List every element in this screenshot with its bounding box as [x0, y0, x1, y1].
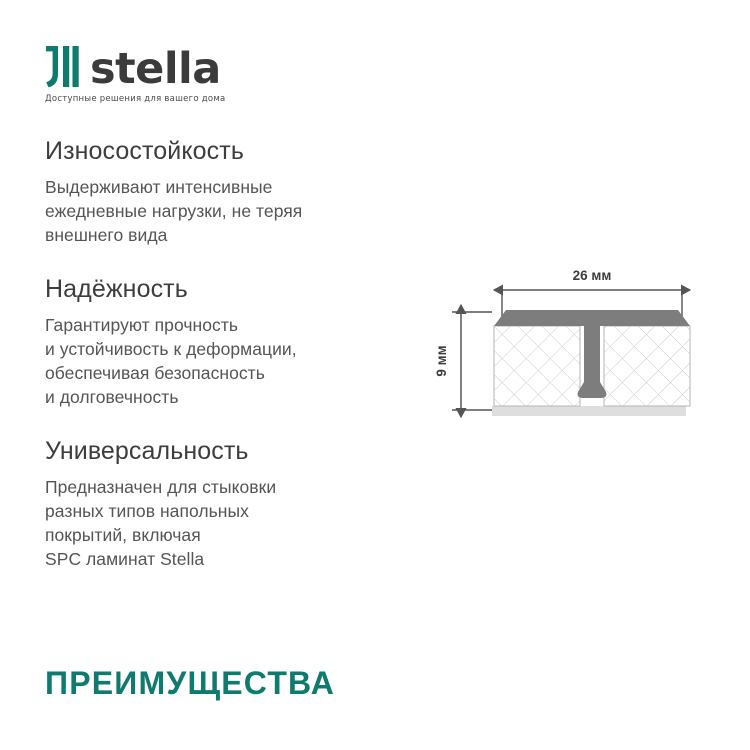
width-dimension-label: 26 мм	[573, 268, 612, 283]
core-block-left	[494, 326, 580, 406]
feature-section-versatility: Универсальность Предназначен для стыковк…	[45, 436, 385, 571]
height-dimension: 9 мм	[434, 312, 492, 410]
base-substrate	[492, 406, 686, 416]
brand-logo: stella Доступные решения для вашего дома	[45, 44, 365, 104]
feature-title: Универсальность	[45, 436, 385, 466]
feature-title: Надёжность	[45, 274, 385, 304]
feature-body: Выдерживают интенсивные ежедневные нагру…	[45, 175, 385, 247]
feature-body: Предназначен для стыковки разных типов н…	[45, 475, 385, 571]
feature-title: Износостойкость	[45, 136, 385, 166]
product-infographic: stella Доступные решения для вашего дома…	[0, 0, 750, 750]
profile-stem	[578, 326, 607, 398]
stella-logo-icon	[45, 46, 81, 88]
feature-body: Гарантируют прочность и устойчивость к д…	[45, 313, 385, 409]
profile-drawing-svg: 26 мм 9 мм	[430, 262, 710, 432]
logo-tagline: Доступные решения для вашего дома	[45, 94, 365, 104]
logo-wordmark: stella	[90, 48, 221, 90]
height-dimension-label: 9 мм	[434, 345, 449, 376]
profile-top-cap	[494, 310, 690, 326]
logo-row: stella	[45, 44, 365, 88]
profile-cross-section-diagram: 26 мм 9 мм	[430, 262, 710, 432]
feature-section-durability: Износостойкость Выдерживают интенсивные …	[45, 136, 385, 247]
feature-section-reliability: Надёжность Гарантируют прочность и устой…	[45, 274, 385, 409]
page-headline: ПРЕИМУЩЕСТВА	[45, 664, 335, 702]
core-block-right	[604, 326, 690, 406]
